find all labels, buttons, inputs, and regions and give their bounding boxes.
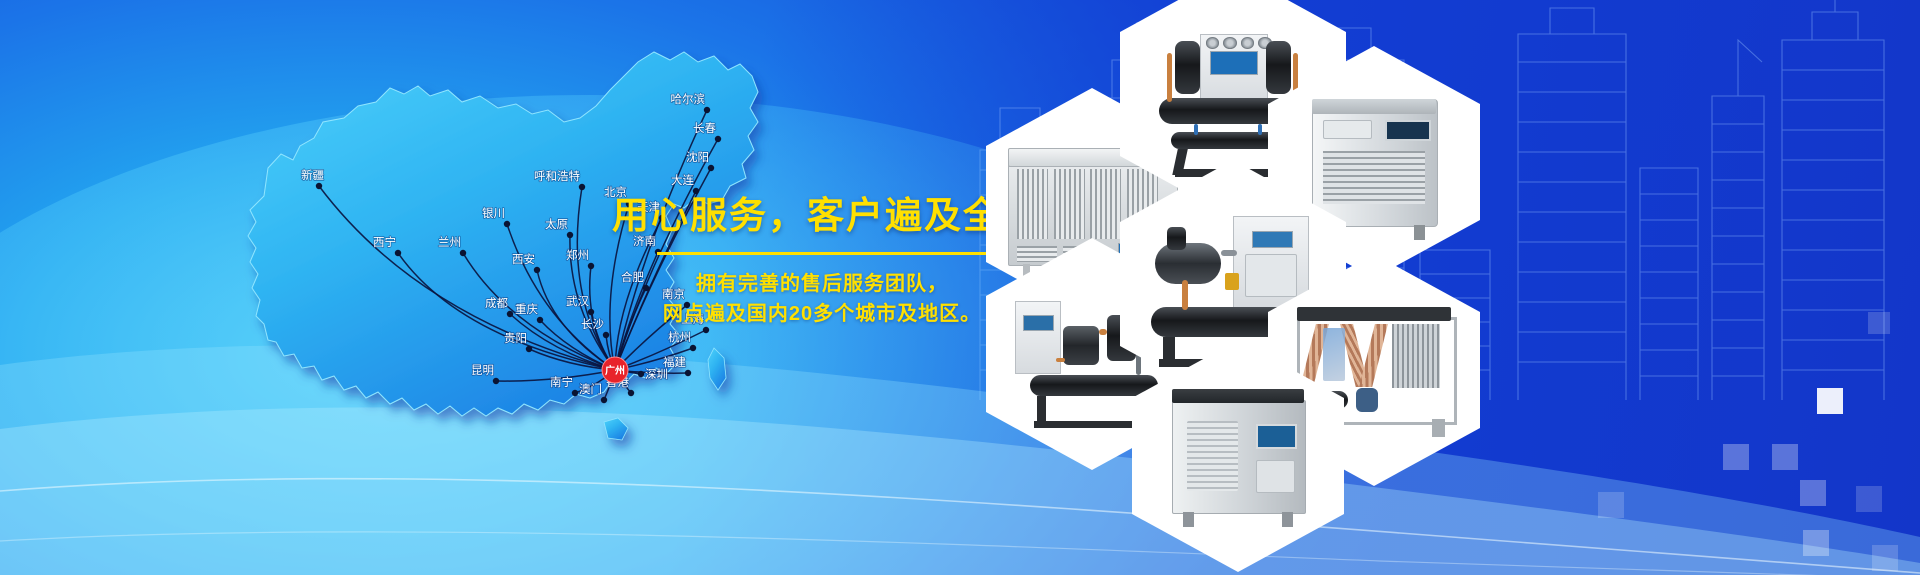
map-city-label: 成都 (485, 297, 508, 310)
map-city-label: 贵阳 (504, 332, 527, 345)
map-city-label: 南宁 (550, 375, 573, 389)
map-city-label: 昆明 (471, 364, 494, 377)
product-hexagon-gallery (960, 0, 1920, 575)
map-city-label: 太原 (545, 218, 568, 231)
map-city-label: 西安 (512, 252, 535, 266)
map-city-label: 沈阳 (686, 150, 709, 164)
title-divider (657, 252, 987, 255)
promo-banner: 新疆西宁兰州银川呼和浩特太原西安北京天津哈尔滨长春沈阳大连郑州济南合肥南京上海杭… (0, 0, 1920, 575)
map-city-label: 武汉 (566, 295, 589, 308)
map-city-label: 福建 (663, 355, 686, 369)
map-city-label: 长春 (693, 122, 716, 135)
map-city-label: 银川 (482, 206, 505, 220)
map-city-label: 郑州 (566, 248, 589, 262)
product-image-industrial-water-chiller (1147, 368, 1329, 544)
map-city-label: 兰州 (438, 236, 461, 249)
map-city-label: 重庆 (515, 302, 538, 316)
map-city-label: 杭州 (668, 330, 691, 344)
map-city-label: 哈尔滨 (671, 92, 706, 106)
map-city-label: 呼和浩特 (534, 169, 580, 183)
map-city-label: 西宁 (373, 235, 396, 249)
map-city-label: 长沙 (581, 318, 604, 331)
map-city-label: 新疆 (301, 168, 324, 182)
hub-marker-guangzhou[interactable]: 广州 (602, 357, 628, 383)
map-city-label: 澳门 (579, 382, 602, 396)
map-city-label: 大连 (671, 173, 694, 187)
map-city-label: 深圳 (645, 367, 668, 381)
hub-label: 广州 (605, 364, 625, 377)
